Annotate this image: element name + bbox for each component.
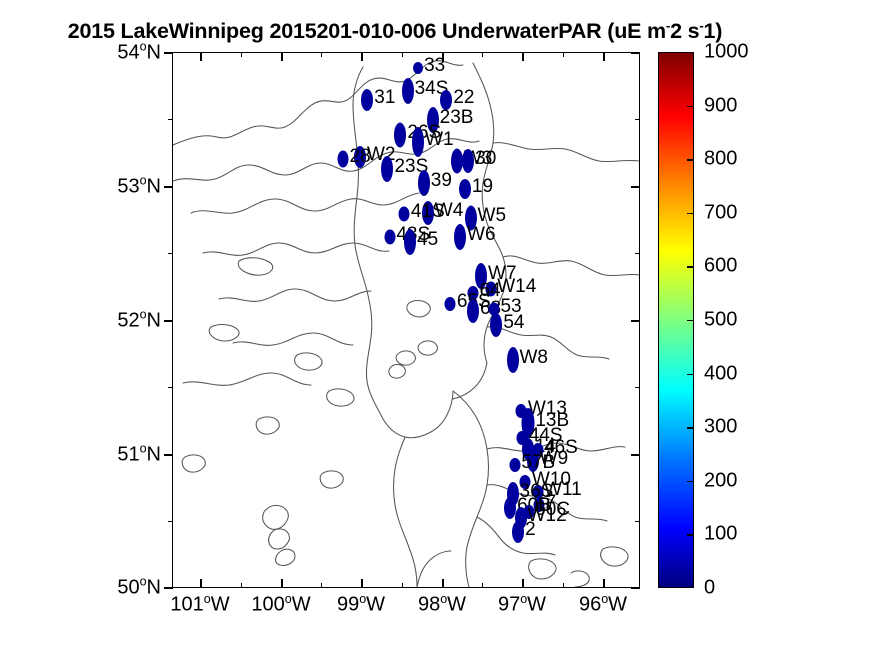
ytick-minor-505n [168, 521, 173, 522]
station-marker-57B[interactable] [509, 458, 520, 472]
xtick-top-minor-975w [482, 52, 483, 57]
colorbar-tick-500 [687, 320, 694, 321]
xtick-top-97w [522, 52, 524, 61]
xtick-label-96w: 96oW [579, 592, 627, 617]
station-label-19: 19 [472, 176, 493, 198]
ytick-right-50n [631, 587, 640, 589]
xtick-major-100w [281, 579, 283, 588]
xtick-suffix-x3: W [447, 594, 466, 616]
degree-symbol-y3: o [140, 174, 147, 188]
figure-canvas: 2015 LakeWinnipeg 2015201-010-006 Underw… [0, 0, 875, 656]
ytick-label-54n: 54oN [95, 40, 161, 65]
ytick-major-53n [164, 186, 173, 188]
xtick-suffix-x5: W [608, 594, 627, 616]
xtick-major-99w [361, 579, 363, 588]
colorbar-label-200: 200 [704, 469, 737, 492]
station-label-2: 2 [525, 519, 536, 541]
colorbar-tick-100 [687, 534, 694, 535]
xtick-label-98w: 98oW [418, 592, 466, 617]
ytick-right-51n [631, 454, 640, 456]
xtick-major-96w [603, 579, 605, 588]
colorbar-label-700: 700 [704, 201, 737, 224]
xtick-minor-995w [321, 583, 322, 588]
xtick-top-minor-985w [402, 52, 403, 57]
xtick-major-98w [442, 579, 444, 588]
ytick-major-52n [164, 320, 173, 322]
xtick-top-96w [603, 52, 605, 61]
ytick-right-minor-515n [635, 387, 640, 388]
colorbar-label-400: 400 [704, 362, 737, 385]
station-label-23B: 23B [440, 107, 474, 129]
xtick-top-101w [200, 52, 202, 61]
xtick-minor-975w [482, 583, 483, 588]
station-label-45: 45 [417, 229, 438, 251]
station-label-W6: W6 [467, 224, 496, 246]
station-marker-54[interactable] [490, 313, 502, 337]
chart-title-mid: 2 s [670, 19, 699, 43]
colorbar-label-0: 0 [704, 577, 715, 600]
xtick-label-101w: 101oW [170, 592, 229, 617]
colorbar-label-900: 900 [704, 94, 737, 117]
ytick-right-minor-525n [635, 253, 640, 254]
colorbar-label-1000: 1000 [704, 41, 749, 64]
xtick-label-96w-value: 96 [579, 594, 601, 616]
ytick-label-53n-value: 53 [117, 175, 139, 197]
ytick-suffix-y0: N [147, 576, 161, 598]
colorbar-tick-700 [687, 213, 694, 214]
xtick-minor-985w [402, 583, 403, 588]
xtick-label-99w: 99oW [337, 592, 385, 617]
station-label-33: 33 [424, 55, 445, 77]
station-marker-39[interactable] [418, 170, 430, 196]
colorbar-label-600: 600 [704, 255, 737, 278]
ytick-suffix-y3: N [147, 175, 161, 197]
station-marker-31[interactable] [361, 89, 373, 111]
station-marker-W1[interactable] [412, 127, 424, 157]
colorbar-tick-300 [687, 427, 694, 428]
degree-symbol-y0: o [140, 575, 147, 589]
ytick-label-51n: 51oN [95, 442, 161, 467]
station-marker-30[interactable] [462, 149, 474, 173]
station-label-30: 30 [475, 148, 496, 170]
colorbar-tick-900 [687, 106, 694, 107]
colorbar-tick-400 [687, 374, 694, 375]
ytick-right-54n [631, 52, 640, 54]
xtick-major-101w [200, 579, 202, 588]
ytick-minor-525n [168, 253, 173, 254]
ytick-label-51n-value: 51 [117, 443, 139, 465]
station-marker-W8[interactable] [507, 347, 519, 373]
degree-symbol-y1: o [140, 442, 147, 456]
station-marker-43S[interactable] [384, 229, 395, 244]
station-marker-26S[interactable] [394, 123, 406, 148]
station-label-39: 39 [431, 170, 452, 192]
xtick-label-100w-value: 100 [251, 594, 284, 616]
xtick-suffix-x2: W [366, 594, 385, 616]
ytick-label-52n: 52oN [95, 308, 161, 333]
station-marker-28[interactable] [338, 151, 349, 168]
ytick-right-52n [631, 320, 640, 322]
ytick-right-minor-505n [635, 521, 640, 522]
ytick-right-53n [631, 186, 640, 188]
xtick-minor-1005w [241, 583, 242, 588]
xtick-top-minor-995w [321, 52, 322, 57]
ytick-major-54n [164, 52, 173, 54]
xtick-label-97w-value: 97 [498, 594, 520, 616]
station-marker-34S[interactable] [402, 78, 414, 104]
ytick-minor-535n [168, 119, 173, 120]
station-label-W8: W8 [520, 347, 549, 369]
xtick-label-100w: 100oW [251, 592, 310, 617]
xtick-label-98w-value: 98 [418, 594, 440, 616]
ytick-major-51n [164, 454, 173, 456]
station-marker-33[interactable] [413, 62, 423, 74]
colorbar-tick-800 [687, 159, 694, 160]
colorbar-tick-600 [687, 266, 694, 267]
ytick-suffix-y1: N [147, 443, 161, 465]
station-label-W14: W14 [497, 276, 536, 298]
ytick-minor-515n [168, 387, 173, 388]
station-marker-23S[interactable] [381, 156, 393, 182]
ytick-suffix-y2: N [147, 309, 161, 331]
xtick-label-97w: 97oW [498, 592, 546, 617]
xtick-top-100w [281, 52, 283, 61]
colorbar-label-300: 300 [704, 416, 737, 439]
ytick-major-50n [164, 587, 173, 589]
station-marker-65S[interactable] [445, 297, 456, 311]
ytick-label-50n-value: 50 [117, 576, 139, 598]
degree-symbol-y2: o [140, 308, 147, 322]
xtick-top-minor-965w [563, 52, 564, 57]
station-label-41S: 41S [411, 201, 445, 223]
station-marker-2[interactable] [512, 521, 524, 543]
xtick-suffix-x4: W [527, 594, 546, 616]
xtick-top-99w [361, 52, 363, 61]
ytick-label-52n-value: 52 [117, 309, 139, 331]
xtick-major-97w [522, 579, 524, 588]
station-label-54: 54 [503, 312, 524, 334]
station-marker-W6[interactable] [454, 224, 466, 250]
colorbar-label-800: 800 [704, 148, 737, 171]
xtick-label-99w-value: 99 [337, 594, 359, 616]
degree-symbol-y4: o [140, 40, 147, 54]
station-marker-19[interactable] [459, 179, 471, 199]
xtick-suffix-x0: W [211, 594, 230, 616]
ytick-label-54n-value: 54 [117, 41, 139, 63]
station-marker-68[interactable] [467, 299, 479, 323]
station-label-31: 31 [374, 87, 395, 109]
xtick-top-minor-1005w [241, 52, 242, 57]
station-marker-45[interactable] [404, 229, 416, 255]
colorbar-label-100: 100 [704, 523, 737, 546]
colorbar-tick-200 [687, 481, 694, 482]
ytick-label-53n: 53oN [95, 174, 161, 199]
station-label-22: 22 [453, 87, 474, 109]
ytick-right-minor-535n [635, 119, 640, 120]
xtick-suffix-x1: W [292, 594, 311, 616]
ytick-suffix-y4: N [147, 41, 161, 63]
station-label-28: 28 [350, 146, 371, 168]
xtick-label-101w-value: 101 [170, 594, 203, 616]
station-marker-41S[interactable] [399, 207, 410, 222]
ytick-label-50n: 50oN [95, 575, 161, 600]
xtick-minor-965w [563, 583, 564, 588]
station-marker-W3[interactable] [451, 148, 463, 173]
colorbar-label-500: 500 [704, 309, 737, 332]
station-label-W1: W1 [425, 129, 454, 151]
